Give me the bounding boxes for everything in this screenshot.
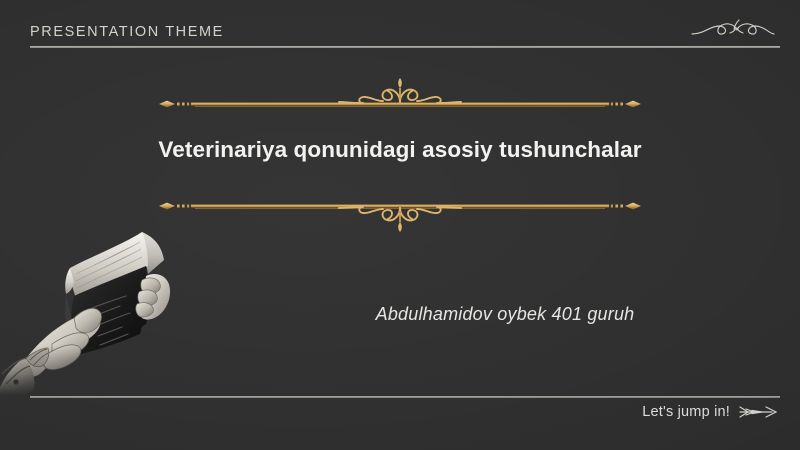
presentation-slide: PRESENTATION THEME <box>0 0 800 450</box>
flourish-ornament-icon <box>690 16 776 42</box>
footer-label: Let's jump in! <box>642 404 730 420</box>
hands-holding-open-book-illustration <box>0 216 196 396</box>
header-label: PRESENTATION THEME <box>30 24 224 40</box>
fletched-arrow-right-icon <box>738 404 778 420</box>
slide-title: Veterinariya qonunidagi asosiy tushuncha… <box>155 136 645 164</box>
header-rule <box>30 46 780 48</box>
slide-subtitle: Abdulhamidov oybek 401 guruh <box>305 304 705 325</box>
footer-cta[interactable]: Let's jump in! <box>642 404 778 420</box>
gold-ornamental-divider-up-icon <box>155 74 645 120</box>
gold-ornamental-divider-down-icon <box>155 192 645 238</box>
footer-rule <box>30 396 780 398</box>
